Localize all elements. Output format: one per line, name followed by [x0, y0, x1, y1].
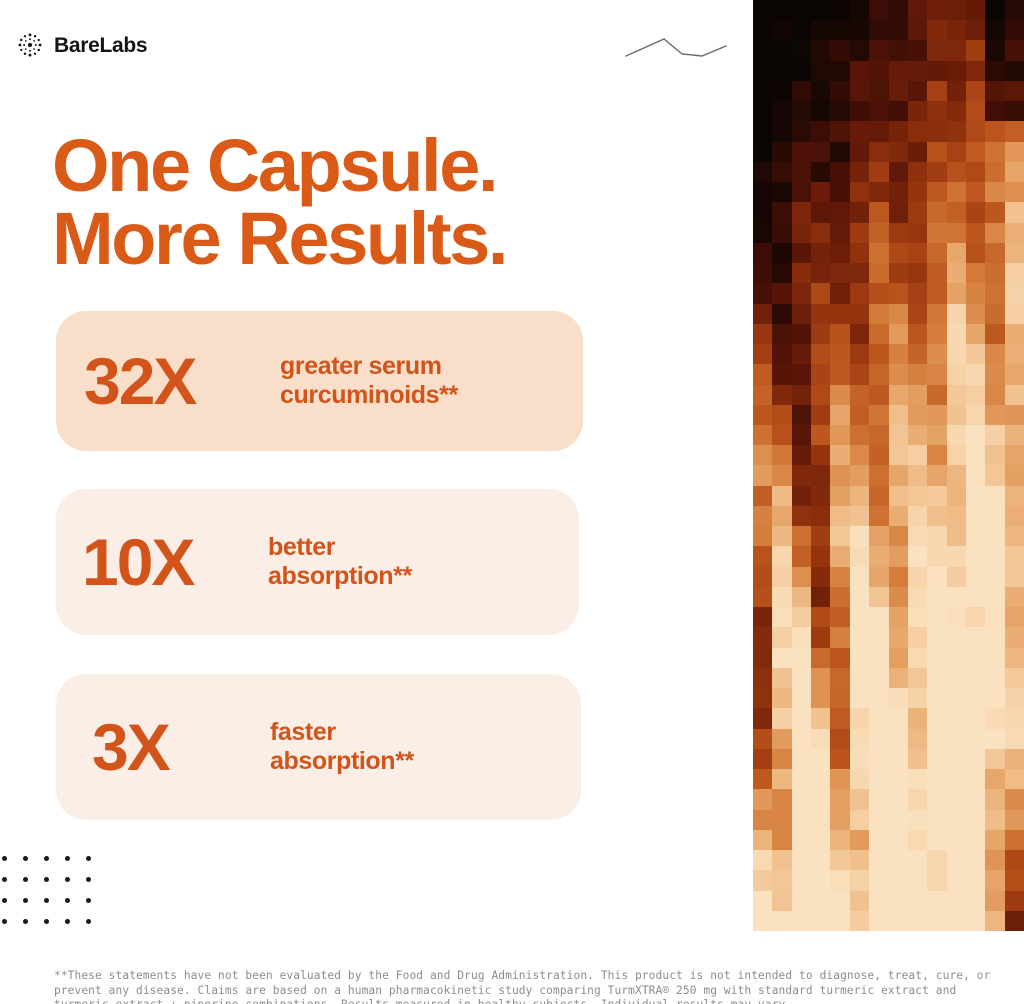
- mosaic-pixel: [985, 304, 1004, 324]
- mosaic-pixel: [947, 526, 966, 546]
- mosaic-pixel: [908, 749, 927, 769]
- mosaic-pixel: [927, 364, 946, 384]
- mosaic-pixel: [869, 850, 888, 870]
- mosaic-pixel: [889, 607, 908, 627]
- stat-card: 32X greater serum curcuminoids**: [56, 311, 583, 451]
- mosaic-pixel: [966, 405, 985, 425]
- mosaic-pixel: [792, 486, 811, 506]
- mosaic-pixel: [772, 911, 791, 931]
- mosaic-pixel: [908, 587, 927, 607]
- mosaic-pixel: [772, 263, 791, 283]
- stat-multiplier: 10X: [82, 529, 268, 595]
- mosaic-pixel: [1005, 850, 1024, 870]
- mosaic-pixel: [792, 121, 811, 141]
- mosaic-pixel: [753, 61, 772, 81]
- mosaic-pixel: [985, 81, 1004, 101]
- mosaic-pixel: [1005, 202, 1024, 222]
- mosaic-pixel: [908, 729, 927, 749]
- mosaic-pixel: [792, 769, 811, 789]
- mosaic-pixel: [985, 20, 1004, 40]
- mosaic-pixel: [1005, 870, 1024, 890]
- mosaic-pixel: [792, 567, 811, 587]
- mosaic-pixel: [1005, 546, 1024, 566]
- mosaic-pixel: [985, 162, 1004, 182]
- mosaic-pixel: [811, 304, 830, 324]
- mosaic-pixel: [792, 202, 811, 222]
- mosaic-pixel: [889, 425, 908, 445]
- mosaic-pixel: [985, 789, 1004, 809]
- mosaic-pixel: [985, 465, 1004, 485]
- mosaic-pixel: [850, 20, 869, 40]
- mosaic-pixel: [811, 425, 830, 445]
- mosaic-pixel: [869, 627, 888, 647]
- mosaic-pixel: [850, 648, 869, 668]
- mosaic-pixel: [772, 0, 791, 20]
- mosaic-pixel: [869, 668, 888, 688]
- mosaic-pixel: [830, 0, 849, 20]
- mosaic-pixel: [830, 142, 849, 162]
- mosaic-pixel: [927, 891, 946, 911]
- mosaic-pixel: [966, 121, 985, 141]
- mosaic-pixel: [947, 810, 966, 830]
- mosaic-pixel: [947, 708, 966, 728]
- mosaic-pixel: [811, 385, 830, 405]
- mosaic-pixel: [908, 385, 927, 405]
- mosaic-pixel: [792, 344, 811, 364]
- mosaic-pixel: [889, 162, 908, 182]
- mosaic-pixel: [1005, 425, 1024, 445]
- mosaic-pixel: [927, 486, 946, 506]
- mosaic-pixel: [830, 607, 849, 627]
- mosaic-pixel: [792, 830, 811, 850]
- mosaic-pixel: [947, 506, 966, 526]
- mosaic-pixel: [830, 769, 849, 789]
- mosaic-pixel: [850, 546, 869, 566]
- mosaic-pixel: [753, 870, 772, 890]
- mosaic-pixel: [889, 911, 908, 931]
- mosaic-pixel: [947, 911, 966, 931]
- mosaic-pixel: [753, 627, 772, 647]
- mosaic-pixel: [772, 465, 791, 485]
- mosaic-pixel: [947, 142, 966, 162]
- mosaic-pixel: [889, 465, 908, 485]
- mosaic-pixel: [850, 830, 869, 850]
- mosaic-pixel: [811, 830, 830, 850]
- dot: [2, 856, 7, 861]
- mosaic-pixel: [927, 648, 946, 668]
- mosaic-pixel: [869, 142, 888, 162]
- mosaic-pixel: [1005, 283, 1024, 303]
- mosaic-pixel: [966, 769, 985, 789]
- mosaic-pixel: [985, 749, 1004, 769]
- mosaic-pixel: [889, 182, 908, 202]
- mosaic-pixel: [792, 546, 811, 566]
- mosaic-pixel: [753, 324, 772, 344]
- mosaic-pixel: [889, 202, 908, 222]
- mosaic-pixel: [908, 486, 927, 506]
- mosaic-pixel: [966, 627, 985, 647]
- mosaic-pixel: [830, 445, 849, 465]
- mosaic-pixel: [830, 668, 849, 688]
- mosaic-pixel: [927, 729, 946, 749]
- mosaic-pixel: [753, 708, 772, 728]
- dot: [65, 856, 70, 861]
- mosaic-pixel: [966, 425, 985, 445]
- mosaic-pixel: [869, 749, 888, 769]
- mosaic-pixel: [772, 850, 791, 870]
- mosaic-pixel: [985, 364, 1004, 384]
- mosaic-pixel: [1005, 385, 1024, 405]
- mosaic-pixel: [869, 526, 888, 546]
- mosaic-pixel: [985, 0, 1004, 20]
- mosaic-pixel: [830, 465, 849, 485]
- mosaic-pixel: [869, 465, 888, 485]
- mosaic-pixel: [889, 668, 908, 688]
- stat-card: 10X better absorption**: [56, 489, 579, 635]
- mosaic-pixel: [966, 729, 985, 749]
- mosaic-pixel: [1005, 223, 1024, 243]
- mosaic-pixel: [850, 304, 869, 324]
- mosaic-pixel: [947, 61, 966, 81]
- mosaic-pixel: [966, 648, 985, 668]
- mosaic-pixel: [830, 364, 849, 384]
- mosaic-pixel: [966, 385, 985, 405]
- mosaic-pixel: [889, 688, 908, 708]
- mosaic-pixel: [850, 223, 869, 243]
- mosaic-pixel: [947, 243, 966, 263]
- mosaic-pixel: [966, 830, 985, 850]
- mosaic-pixel: [1005, 587, 1024, 607]
- mosaic-pixel: [927, 708, 946, 728]
- mosaic-pixel: [966, 688, 985, 708]
- mosaic-pixel: [850, 769, 869, 789]
- mosaic-pixel: [966, 486, 985, 506]
- mosaic-pixel: [966, 567, 985, 587]
- mosaic-pixel: [753, 445, 772, 465]
- mosaic-pixel: [908, 223, 927, 243]
- mosaic-pixel: [850, 324, 869, 344]
- mosaic-pixel: [927, 20, 946, 40]
- mosaic-pixel: [772, 142, 791, 162]
- mosaic-pixel: [908, 870, 927, 890]
- mosaic-pixel: [753, 789, 772, 809]
- mosaic-pixel: [869, 546, 888, 566]
- mosaic-pixel: [753, 364, 772, 384]
- mosaic-pixel: [792, 870, 811, 890]
- mosaic-pixel: [985, 870, 1004, 890]
- stat-multiplier: 32X: [84, 348, 280, 414]
- mosaic-pixel: [927, 223, 946, 243]
- mosaic-pixel: [927, 445, 946, 465]
- mosaic-pixel: [1005, 668, 1024, 688]
- mosaic-pixel: [850, 202, 869, 222]
- mosaic-pixel: [772, 648, 791, 668]
- mosaic-pixel: [869, 324, 888, 344]
- mosaic-pixel: [753, 688, 772, 708]
- mosaic-pixel: [985, 101, 1004, 121]
- mosaic-pixel: [811, 911, 830, 931]
- mosaic-pixel: [966, 445, 985, 465]
- mosaic-pixel: [908, 20, 927, 40]
- mosaic-pixel: [792, 40, 811, 60]
- mosaic-pixel: [927, 142, 946, 162]
- mosaic-pixel: [1005, 648, 1024, 668]
- mosaic-pixel: [947, 607, 966, 627]
- mosaic-pixel: [908, 101, 927, 121]
- mosaic-pixel: [889, 810, 908, 830]
- mosaic-pixel: [869, 385, 888, 405]
- mosaic-pixel: [772, 729, 791, 749]
- mosaic-pixel: [811, 142, 830, 162]
- mosaic-pixel: [772, 20, 791, 40]
- mosaic-pixel: [908, 121, 927, 141]
- mosaic-pixel: [811, 506, 830, 526]
- mosaic-pixel: [947, 789, 966, 809]
- mosaic-pixel: [869, 708, 888, 728]
- mosaic-pixel: [908, 364, 927, 384]
- mosaic-pixel: [811, 20, 830, 40]
- mosaic-pixel: [947, 830, 966, 850]
- mosaic-pixel: [850, 283, 869, 303]
- mosaic-pixel: [869, 304, 888, 324]
- mosaic-pixel: [869, 789, 888, 809]
- mosaic-pixel: [927, 385, 946, 405]
- mosaic-pixel: [1005, 830, 1024, 850]
- mosaic-pixel: [927, 243, 946, 263]
- mosaic-pixel: [889, 769, 908, 789]
- mosaic-pixel: [947, 870, 966, 890]
- mosaic-pixel: [830, 182, 849, 202]
- mosaic-pixel: [966, 607, 985, 627]
- mosaic-pixel: [869, 445, 888, 465]
- mosaic-pixel: [772, 445, 791, 465]
- mosaic-pixel: [753, 182, 772, 202]
- mosaic-pixel: [985, 810, 1004, 830]
- mosaic-pixel: [966, 243, 985, 263]
- mosaic-pixel: [985, 688, 1004, 708]
- mosaic-pixel: [985, 445, 1004, 465]
- mosaic-pixel: [927, 526, 946, 546]
- mosaic-pixel: [908, 850, 927, 870]
- mosaic-pixel: [889, 385, 908, 405]
- mosaic-pixel: [753, 668, 772, 688]
- mosaic-pixel: [1005, 769, 1024, 789]
- mosaic-pixel: [927, 121, 946, 141]
- mosaic-pixel: [1005, 364, 1024, 384]
- mosaic-pixel: [869, 648, 888, 668]
- dot: [2, 898, 7, 903]
- mosaic-pixel: [985, 911, 1004, 931]
- mosaic-pixel: [850, 870, 869, 890]
- mosaic-pixel: [947, 344, 966, 364]
- mosaic-pixel: [830, 20, 849, 40]
- mosaic-pixel: [772, 425, 791, 445]
- mosaic-pixel: [889, 567, 908, 587]
- mosaic-pixel: [985, 283, 1004, 303]
- mosaic-pixel: [985, 850, 1004, 870]
- mosaic-pixel: [908, 830, 927, 850]
- mosaic-pixel: [753, 729, 772, 749]
- mosaic-pixel: [772, 202, 791, 222]
- mosaic-pixel: [753, 202, 772, 222]
- mosaic-pixel: [753, 911, 772, 931]
- mosaic-pixel: [792, 708, 811, 728]
- mosaic-pixel: [850, 729, 869, 749]
- mosaic-pixel: [985, 182, 1004, 202]
- mosaic-pixel: [908, 465, 927, 485]
- mosaic-pixel: [753, 587, 772, 607]
- mosaic-pixel: [850, 668, 869, 688]
- mosaic-pixel: [1005, 61, 1024, 81]
- mosaic-pixel: [772, 587, 791, 607]
- mosaic-pixel: [1005, 688, 1024, 708]
- mosaic-pixel: [850, 891, 869, 911]
- mosaic-pixel: [753, 506, 772, 526]
- mosaic-pixel: [947, 850, 966, 870]
- mosaic-pixel: [772, 283, 791, 303]
- zigzag-line-icon: [620, 30, 732, 62]
- mosaic-pixel: [792, 729, 811, 749]
- mosaic-pixel: [966, 304, 985, 324]
- mosaic-pixel: [772, 182, 791, 202]
- mosaic-pixel: [753, 749, 772, 769]
- mosaic-pixel: [966, 0, 985, 20]
- mosaic-pixel: [927, 344, 946, 364]
- mosaic-pixel: [947, 405, 966, 425]
- mosaic-pixel: [792, 749, 811, 769]
- mosaic-pixel: [811, 526, 830, 546]
- mosaic-pixel: [753, 142, 772, 162]
- mosaic-pixel: [830, 81, 849, 101]
- mosaic-pixel: [850, 465, 869, 485]
- mosaic-pixel: [966, 364, 985, 384]
- mosaic-pixel: [792, 101, 811, 121]
- mosaic-pixel: [985, 425, 1004, 445]
- mosaic-pixel: [830, 688, 849, 708]
- mosaic-pixel: [947, 425, 966, 445]
- mosaic-pixel: [830, 385, 849, 405]
- mosaic-pixel: [811, 263, 830, 283]
- disclaimer-text: **These statements have not been evaluat…: [54, 969, 1006, 1004]
- mosaic-pixel: [908, 627, 927, 647]
- mosaic-pixel: [889, 40, 908, 60]
- mosaic-pixel: [753, 385, 772, 405]
- mosaic-pixel: [850, 688, 869, 708]
- mosaic-pixel: [753, 344, 772, 364]
- dot: [2, 919, 7, 924]
- mosaic-pixel: [947, 567, 966, 587]
- mosaic-pixel: [850, 81, 869, 101]
- mosaic-pixel: [1005, 101, 1024, 121]
- mosaic-pixel: [927, 162, 946, 182]
- mosaic-pixel: [966, 668, 985, 688]
- mosaic-pixel: [811, 688, 830, 708]
- mosaic-pixel: [850, 101, 869, 121]
- mosaic-pixel: [850, 789, 869, 809]
- mosaic-pixel: [889, 445, 908, 465]
- mosaic-pixel: [889, 0, 908, 20]
- mosaic-pixel: [947, 20, 966, 40]
- mosaic-pixel: [947, 324, 966, 344]
- mosaic-pixel: [753, 425, 772, 445]
- mosaic-pixel: [985, 486, 1004, 506]
- mosaic-pixel: [753, 607, 772, 627]
- mosaic-pixel: [792, 627, 811, 647]
- mosaic-pixel: [792, 263, 811, 283]
- mosaic-pixel: [985, 263, 1004, 283]
- mosaic-pixel: [927, 101, 946, 121]
- brand-logo[interactable]: BareLabs: [16, 31, 147, 59]
- mosaic-pixel: [830, 223, 849, 243]
- dot-grid-row: [0, 877, 118, 882]
- dot-grid-row: [0, 856, 118, 861]
- mosaic-pixel: [927, 263, 946, 283]
- pixelated-photo-mosaic: [753, 0, 1024, 931]
- dot: [65, 919, 70, 924]
- mosaic-pixel: [830, 506, 849, 526]
- mosaic-pixel: [753, 546, 772, 566]
- mosaic-pixel: [811, 61, 830, 81]
- mosaic-pixel: [850, 810, 869, 830]
- mosaic-pixel: [908, 668, 927, 688]
- mosaic-pixel: [927, 830, 946, 850]
- mosaic-pixel: [869, 101, 888, 121]
- mosaic-pixel: [772, 223, 791, 243]
- mosaic-pixel: [792, 850, 811, 870]
- mosaic-pixel: [889, 405, 908, 425]
- mosaic-pixel: [889, 263, 908, 283]
- mosaic-pixel: [1005, 0, 1024, 20]
- mosaic-pixel: [985, 830, 1004, 850]
- mosaic-pixel: [947, 486, 966, 506]
- mosaic-pixel: [792, 304, 811, 324]
- mosaic-pixel: [850, 445, 869, 465]
- mosaic-pixel: [985, 243, 1004, 263]
- mosaic-pixel: [811, 810, 830, 830]
- mosaic-pixel: [985, 344, 1004, 364]
- mosaic-pixel: [830, 61, 849, 81]
- mosaic-pixel: [947, 385, 966, 405]
- mosaic-pixel: [811, 121, 830, 141]
- mosaic-pixel: [947, 121, 966, 141]
- mosaic-pixel: [830, 526, 849, 546]
- dot: [86, 856, 91, 861]
- mosaic-pixel: [850, 708, 869, 728]
- mosaic-pixel: [889, 61, 908, 81]
- mosaic-pixel: [830, 708, 849, 728]
- mosaic-pixel: [927, 405, 946, 425]
- mosaic-pixel: [772, 627, 791, 647]
- mosaic-pixel: [753, 648, 772, 668]
- mosaic-pixel: [772, 81, 791, 101]
- mosaic-pixel: [1005, 121, 1024, 141]
- mosaic-pixel: [869, 607, 888, 627]
- mosaic-pixel: [830, 870, 849, 890]
- mosaic-pixel: [889, 891, 908, 911]
- mosaic-pixel: [985, 587, 1004, 607]
- mosaic-pixel: [811, 486, 830, 506]
- mosaic-pixel: [869, 162, 888, 182]
- mosaic-pixel: [830, 850, 849, 870]
- mosaic-pixel: [889, 870, 908, 890]
- mosaic-pixel: [753, 405, 772, 425]
- mosaic-pixel: [811, 405, 830, 425]
- mosaic-pixel: [850, 749, 869, 769]
- mosaic-pixel: [908, 546, 927, 566]
- mosaic-pixel: [966, 465, 985, 485]
- mosaic-pixel: [908, 405, 927, 425]
- dot: [44, 919, 49, 924]
